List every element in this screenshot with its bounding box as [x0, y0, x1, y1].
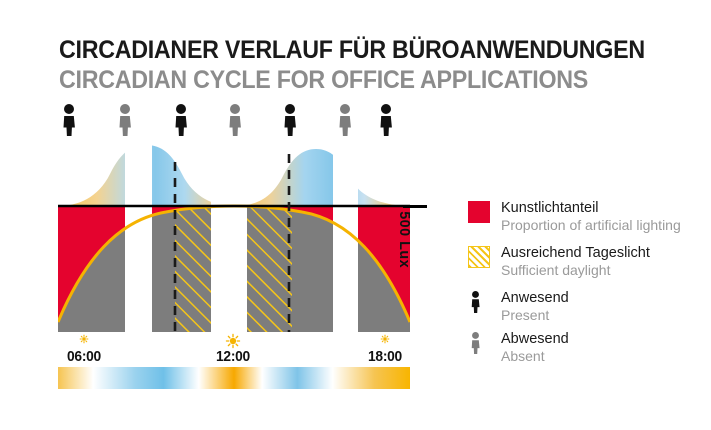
person-icon-present	[470, 291, 486, 313]
legend-text: AbwesendAbsent	[501, 330, 703, 365]
legend-item: KunstlichtanteilProportion of artificial…	[468, 199, 703, 234]
legend-label-en: Absent	[501, 348, 703, 365]
legend-item: AnwesendPresent	[468, 289, 703, 324]
person-icon-absent	[228, 104, 242, 136]
time-tick-1200: 12:00	[193, 332, 273, 365]
legend-item: Ausreichend TageslichtSufficient dayligh…	[468, 244, 703, 279]
time-tick-1800: 18:00	[345, 332, 425, 365]
legend-label-en: Proportion of artificial lighting	[501, 217, 703, 234]
page-title-en: CIRCADIAN CYCLE FOR OFFICE APPLICATIONS	[59, 66, 588, 95]
time-tick-label: 12:00	[196, 348, 270, 365]
circadian-chart	[58, 140, 410, 332]
legend: KunstlichtanteilProportion of artificial…	[468, 199, 703, 371]
legend-label-de: Abwesend	[501, 330, 703, 348]
person-icon-absent	[118, 104, 132, 136]
lux-axis-label: 500 Lux	[396, 211, 413, 268]
legend-item: AbwesendAbsent	[468, 330, 703, 365]
person-icon-absent	[338, 104, 352, 136]
infographic-root: CIRCADIANER VERLAUF FÜR BÜROANWENDUNGEN …	[0, 0, 711, 430]
person-icon-present	[283, 104, 297, 136]
sun-icon-large	[193, 332, 273, 348]
person-icon-present	[62, 104, 76, 136]
sun-icon-small	[44, 332, 124, 348]
legend-text: AnwesendPresent	[501, 289, 703, 324]
legend-label-en: Sufficient daylight	[501, 262, 703, 279]
time-tick-label: 06:00	[47, 348, 121, 365]
legend-label-de: Anwesend	[501, 289, 703, 307]
illuminance-bars	[58, 140, 410, 332]
person-icon-present	[174, 104, 188, 136]
sun-icon-small	[345, 332, 425, 348]
legend-label-de: Kunstlichtanteil	[501, 199, 703, 217]
person-icon-absent	[470, 332, 486, 354]
occupancy-icon-row	[0, 104, 430, 138]
page-title-de: CIRCADIANER VERLAUF FÜR BÜROANWENDUNGEN	[59, 36, 645, 65]
legend-text: KunstlichtanteilProportion of artificial…	[501, 199, 703, 234]
legend-label-en: Present	[501, 307, 703, 324]
time-tick-0600: 06:00	[44, 332, 124, 365]
legend-swatch-artificial-light	[468, 201, 490, 223]
legend-swatch-daylight-hatch	[468, 246, 490, 268]
lux-reference-tick	[403, 205, 427, 208]
time-tick-label: 18:00	[348, 348, 422, 365]
time-axis: 06:0012:0018:00	[0, 332, 430, 362]
legend-label-de: Ausreichend Tageslicht	[501, 244, 703, 262]
colour-temperature-bar	[58, 367, 410, 389]
legend-text: Ausreichend TageslichtSufficient dayligh…	[501, 244, 703, 279]
person-icon-present	[379, 104, 393, 136]
